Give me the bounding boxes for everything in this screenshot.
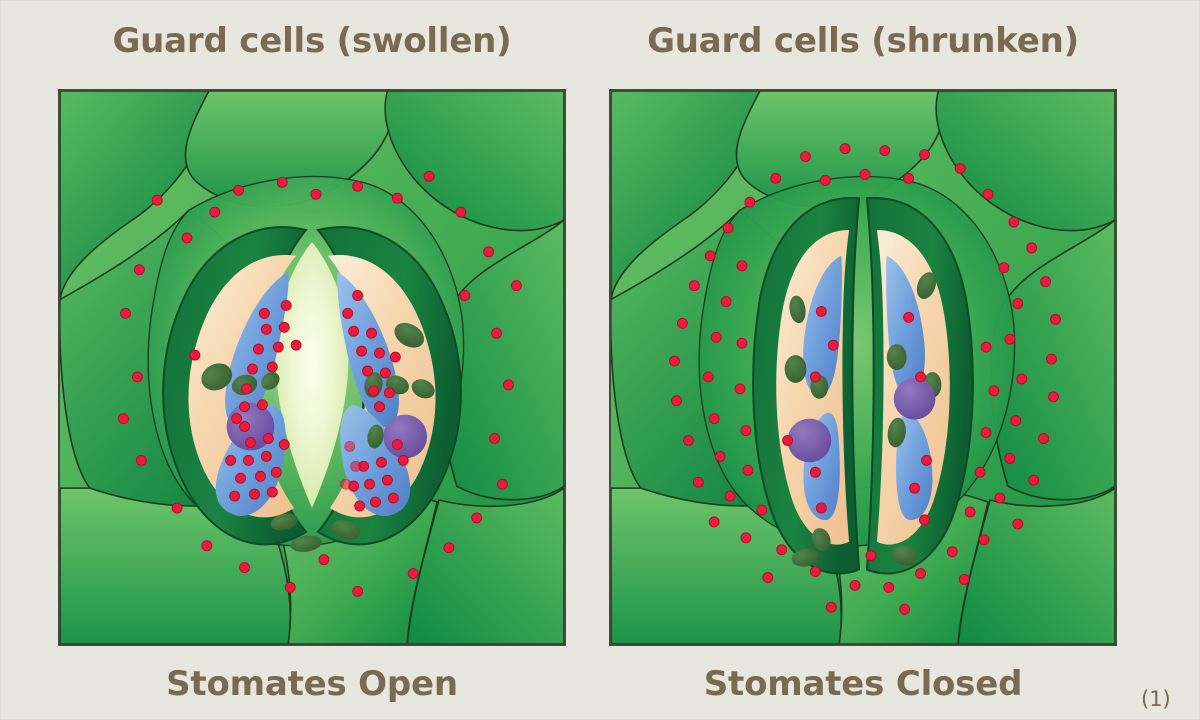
panel-stomates-closed (609, 89, 1117, 646)
nucleus (788, 419, 832, 463)
stomata-open-illustration (60, 91, 564, 644)
panel-title-open: Guard cells (swollen) (58, 21, 566, 61)
panel-caption-open: Stomates Open (58, 664, 566, 704)
stomata-closed-illustration (611, 91, 1115, 644)
panel-caption-closed: Stomates Closed (609, 664, 1117, 704)
stomata-figure: Guard cells (swollen) Guard cells (shrun… (0, 0, 1200, 720)
chloroplast (887, 344, 907, 370)
panel-stomates-open (58, 89, 566, 646)
chloroplast (785, 355, 807, 383)
nucleus (383, 415, 427, 459)
nucleus (894, 378, 936, 420)
panel-title-closed: Guard cells (shrunken) (609, 21, 1117, 61)
citation-marker: (1) (1141, 687, 1171, 711)
